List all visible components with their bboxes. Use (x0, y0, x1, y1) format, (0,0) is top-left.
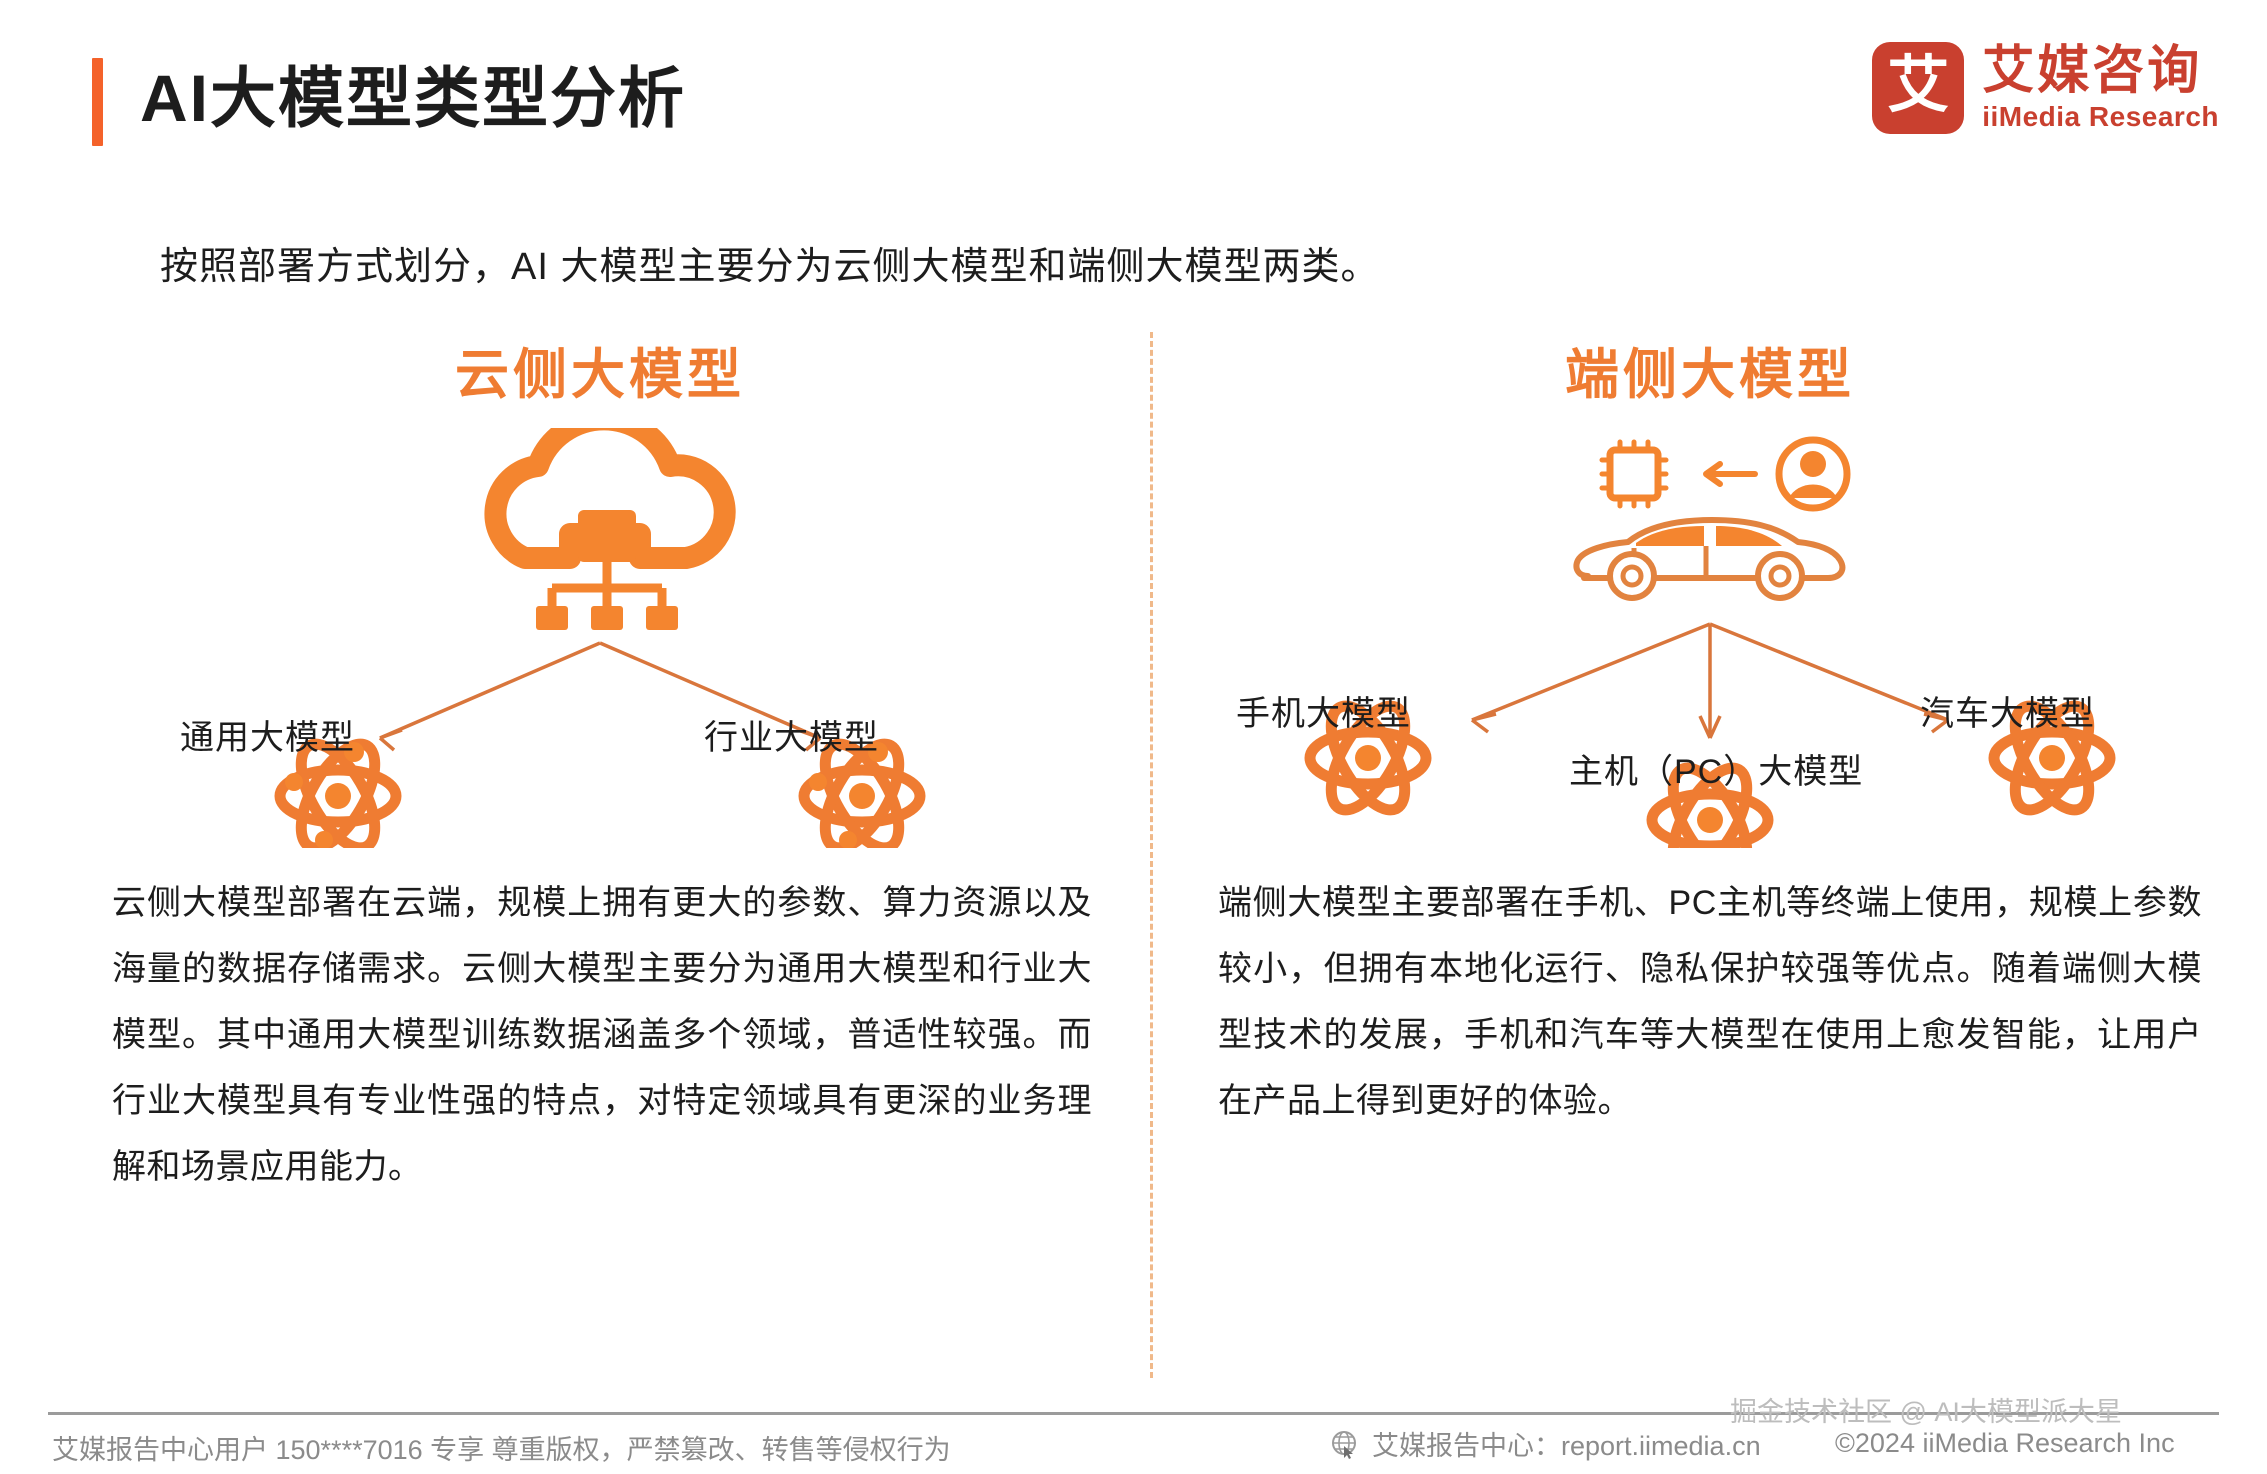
footer-site-label[interactable]: 艾媒报告中心：report.iimedia.cn (1372, 1424, 1761, 1463)
subtitle-text: 按照部署方式划分，AI 大模型主要分为云侧大模型和端侧大模型两类。 (160, 235, 1379, 290)
branch-arrows (1472, 624, 1948, 738)
logo-mark-icon: 艾 (1872, 42, 1964, 134)
footer-copyright: ©2024 iiMedia Research Inc (1835, 1428, 2175, 1459)
brand-logo: 艾 艾媒咨询 iiMedia Research (1872, 42, 2219, 134)
diagram-device: 手机大模型 主机（PC）大模型 汽车大模型 (1200, 428, 2220, 848)
body-text-cloud: 云侧大模型部署在云端，规模上拥有更大的参数、算力资源以及海量的数据存储需求。云侧… (90, 870, 1110, 1200)
footer-site-group: 艾媒报告中心：report.iimedia.cn (1330, 1424, 1761, 1463)
footer-watermark: 掘金技术社区 @ AI大模型派大星 (1730, 1390, 2122, 1429)
column-divider (1150, 332, 1153, 1378)
diagram-cloud: 通用大模型 行业大模型 (90, 428, 1110, 848)
column-cloud-side: 云侧大模型 (90, 340, 1110, 1200)
body-text-device: 端侧大模型主要部署在手机、PC主机等终端上使用，规模上参数较小，但拥有本地化运行… (1200, 870, 2220, 1134)
page-header: AI大模型类型分析 艾 艾媒咨询 iiMedia Research (0, 0, 2267, 185)
left-arrow-icon (1706, 464, 1755, 484)
chip-icon (1602, 442, 1666, 506)
footer-license-notice: 艾媒报告中心用户 150****7016 专享 尊重版权，严禁篡改、转售等侵权行… (52, 1428, 951, 1467)
cloud-network-icon (495, 428, 724, 630)
node-label-industry: 行业大模型 (704, 710, 879, 759)
node-label-general: 通用大模型 (180, 710, 355, 759)
user-avatar-icon (1779, 440, 1847, 508)
logo-name-cn: 艾媒咨询 (1982, 42, 2219, 100)
logo-mark-glyph: 艾 (1887, 55, 1949, 117)
title-accent-bar (92, 58, 103, 146)
diagram-cloud-svg (90, 428, 1110, 848)
logo-name-en: iiMedia Research (1982, 100, 2219, 134)
logo-text: 艾媒咨询 iiMedia Research (1982, 42, 2219, 134)
globe-icon (1330, 1429, 1360, 1459)
node-label-phone: 手机大模型 (1236, 686, 1411, 735)
column-heading-device: 端侧大模型 (1200, 340, 2220, 410)
node-label-pc: 主机（PC）大模型 (1569, 744, 1863, 793)
page-title: AI大模型类型分析 (140, 50, 686, 146)
node-label-car: 汽车大模型 (1920, 686, 2095, 735)
column-heading-cloud: 云侧大模型 (90, 340, 1110, 410)
car-icon (1576, 520, 1842, 598)
column-device-side: 端侧大模型 (1200, 340, 2220, 1134)
